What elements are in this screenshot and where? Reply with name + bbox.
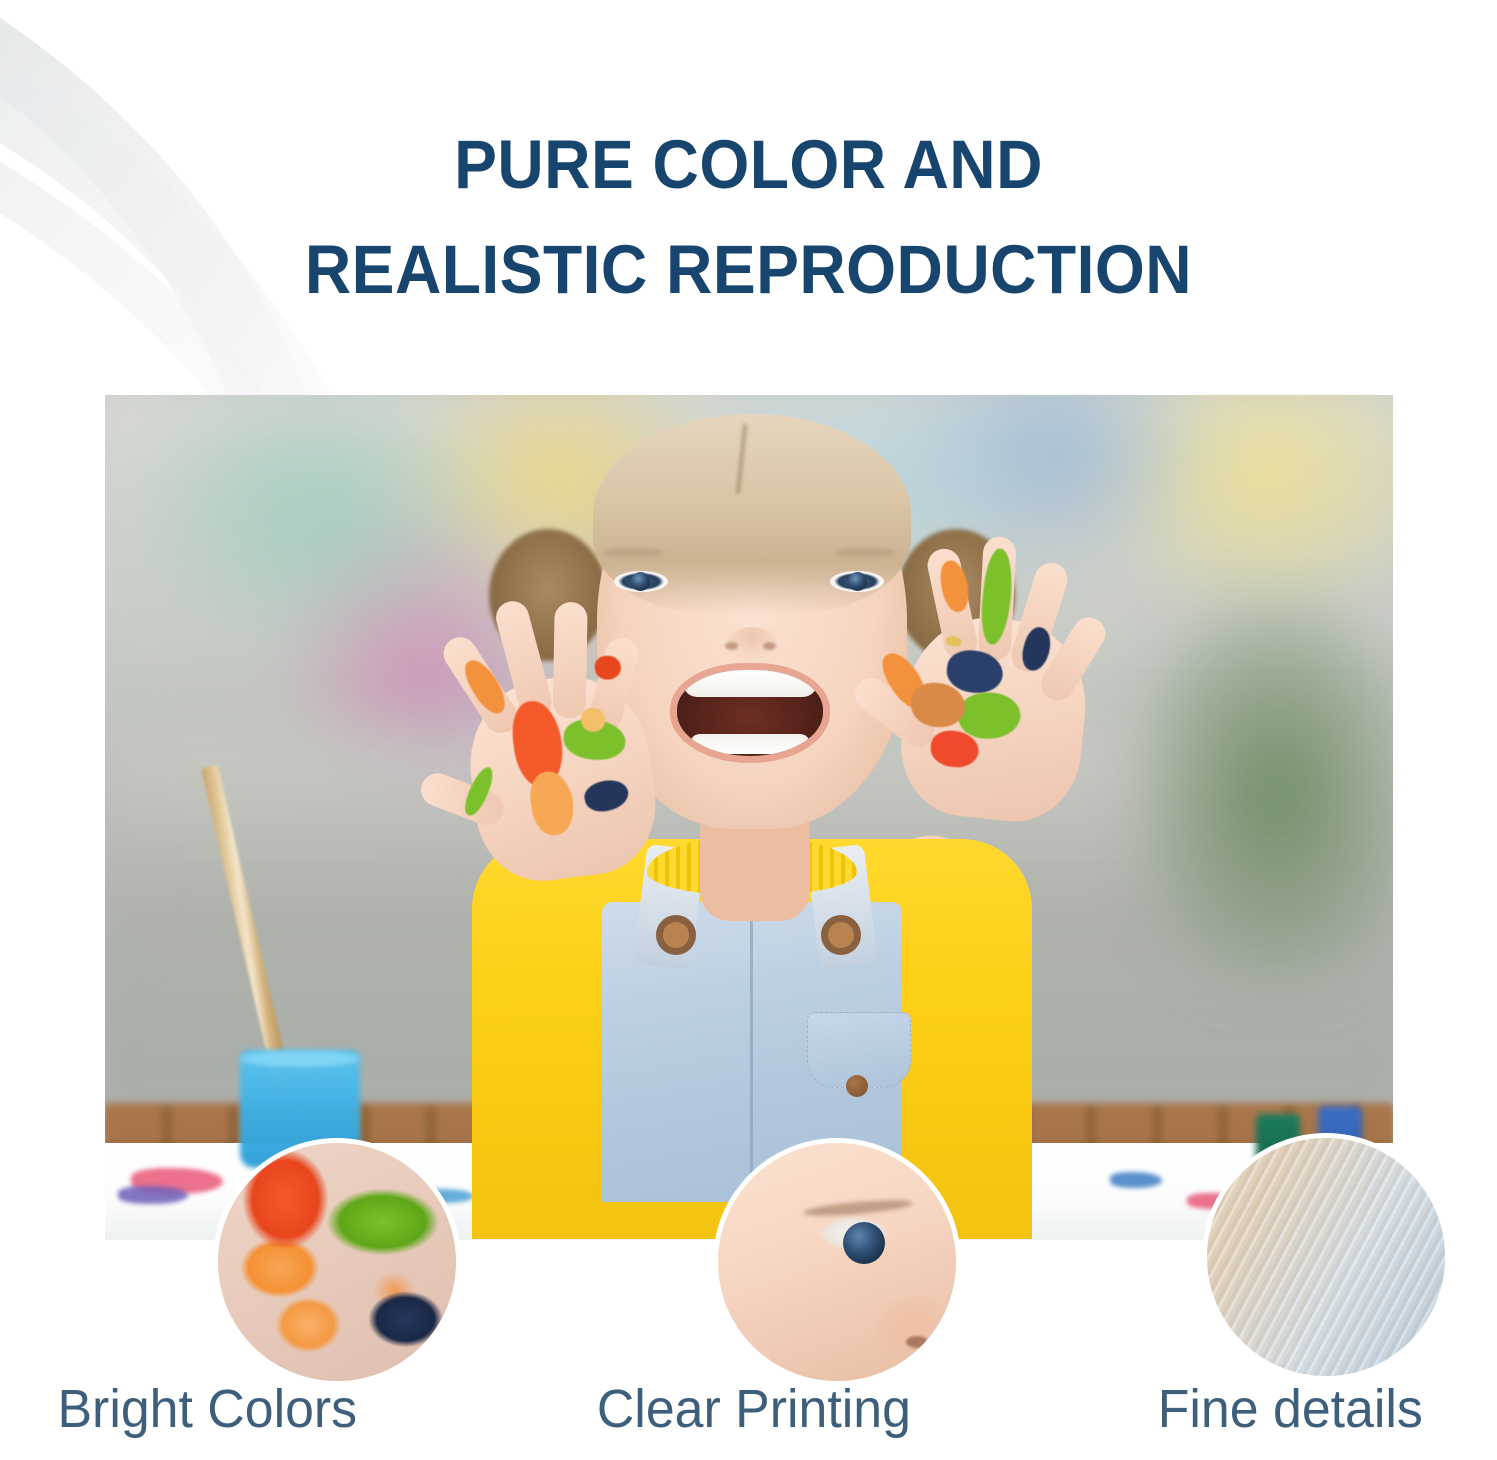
page-title: PURE COLOR AND REALISTIC REPRODUCTION xyxy=(0,112,1497,322)
caption-bright-colors: Bright Colors xyxy=(11,1378,538,1440)
clear-printing-inset xyxy=(718,1143,956,1381)
product-feature-banner: PURE COLOR AND REALISTIC REPRODUCTION xyxy=(0,0,1497,1460)
paint-blob xyxy=(956,690,1021,740)
paint-blob xyxy=(581,776,631,816)
bright-colors-inset xyxy=(218,1143,456,1381)
nostril-left xyxy=(725,642,738,650)
eyebrow-right xyxy=(834,548,896,557)
open-smiling-mouth xyxy=(677,670,823,756)
inset-image-paint-palm xyxy=(218,1143,456,1381)
eye-right xyxy=(830,571,884,592)
iris xyxy=(843,1222,885,1264)
nostril-closeup xyxy=(906,1336,928,1348)
nostril-right xyxy=(763,642,776,650)
eyelid xyxy=(802,1197,913,1219)
paint-blob xyxy=(527,769,576,838)
hero-photo xyxy=(105,395,1393,1240)
nose-closeup xyxy=(877,1296,955,1366)
eye-left xyxy=(614,571,668,592)
overall-clasp-right xyxy=(821,915,861,955)
caption-clear-printing: Clear Printing xyxy=(558,1378,970,1440)
eyebrow-left xyxy=(602,548,664,557)
lower-teeth xyxy=(690,734,810,754)
caption-row: Bright Colors Clear Printing Fine detail… xyxy=(0,1378,1497,1440)
finger-thumb xyxy=(416,769,508,831)
finger-ring xyxy=(553,602,588,719)
caption-fine-details: Fine details xyxy=(988,1378,1486,1440)
inset-image-eye-closeup xyxy=(718,1143,956,1381)
headline-line-2: REALISTIC REPRODUCTION xyxy=(52,217,1444,322)
headline-line-1: PURE COLOR AND xyxy=(52,112,1444,217)
overall-clasp-left xyxy=(656,915,696,955)
inset-image-hair-closeup xyxy=(1207,1138,1445,1376)
upper-teeth xyxy=(683,670,817,697)
fine-details-inset xyxy=(1207,1138,1445,1376)
bib-pocket-button xyxy=(846,1075,868,1097)
girl-subject xyxy=(105,395,1393,1240)
